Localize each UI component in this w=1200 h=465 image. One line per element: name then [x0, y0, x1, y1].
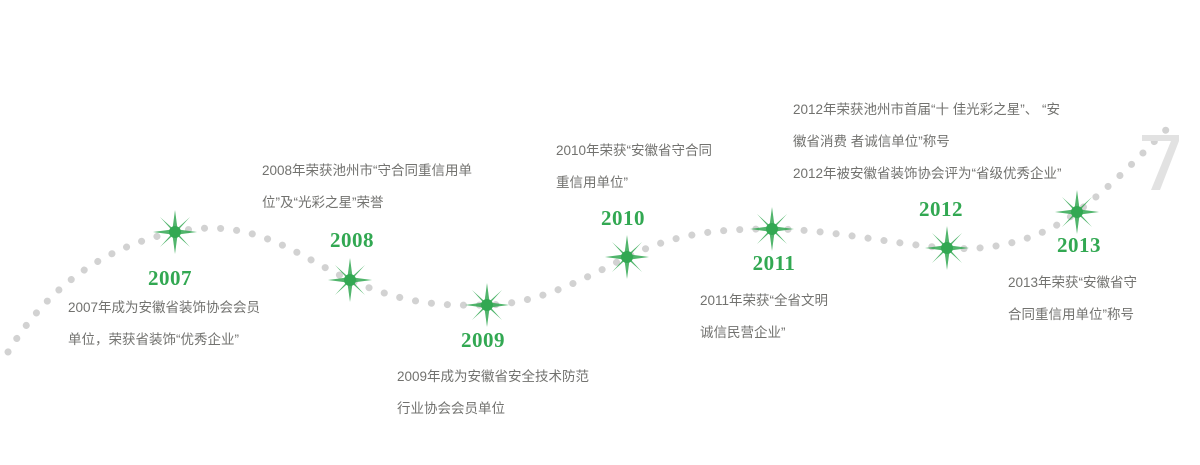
description-line: 位”及“光彩之星”荣誉 [262, 187, 472, 219]
description-line: 合同重信用单位”称号 [1008, 299, 1137, 331]
milestone-star-icon-2013 [1054, 189, 1100, 235]
milestone-star-icon-2010 [604, 234, 650, 280]
milestone-star-icon-2007 [152, 209, 198, 255]
timeline-canvas: 20072007年成为安徽省装饰协会会员单位，荣获省装饰“优秀企业”200820… [0, 0, 1200, 465]
year-label-2010: 2010 [601, 206, 645, 231]
year-label-2013: 2013 [1057, 233, 1101, 258]
description-line: 2007年成为安徽省装饰协会会员 [68, 292, 260, 324]
description-line: 徽省消费 者诚信单位”称号 [793, 126, 1062, 158]
milestone-description-2008: 2008年荣获池州市“守合同重信用单位”及“光彩之星”荣誉 [262, 155, 472, 219]
description-line: 单位，荣获省装饰“优秀企业” [68, 324, 260, 356]
year-label-2007: 2007 [148, 266, 192, 291]
milestone-description-2010: 2010年荣获“安徽省守合同重信用单位” [556, 135, 712, 199]
milestone-star-icon-2008 [327, 257, 373, 303]
description-line: 行业协会会员单位 [397, 393, 589, 425]
milestone-description-2009: 2009年成为安徽省安全技术防范行业协会会员单位 [397, 361, 589, 425]
description-line: 2008年荣获池州市“守合同重信用单 [262, 155, 472, 187]
milestone-star-icon-2009 [464, 282, 510, 328]
description-line: 2012年荣获池州市首届“十 佳光彩之星”、 “安 [793, 94, 1062, 126]
milestone-star-icon-2012 [924, 225, 970, 271]
description-line: 2010年荣获“安徽省守合同 [556, 135, 712, 167]
milestone-description-2011: 2011年荣获“全省文明诚信民营企业” [700, 285, 828, 349]
arrow-chevron-mark [1138, 128, 1184, 194]
description-line: 2011年荣获“全省文明 [700, 285, 828, 317]
year-label-2008: 2008 [330, 228, 374, 253]
milestone-description-2013: 2013年荣获“安徽省守合同重信用单位”称号 [1008, 267, 1137, 331]
milestone-description-2012: 2012年荣获池州市首届“十 佳光彩之星”、 “安徽省消费 者诚信单位”称号20… [793, 94, 1062, 190]
description-line: 2009年成为安徽省安全技术防范 [397, 361, 589, 393]
milestone-star-icon-2011 [749, 206, 795, 252]
description-line: 重信用单位” [556, 167, 712, 199]
description-line: 诚信民营企业” [700, 317, 828, 349]
description-line: 2013年荣获“安徽省守 [1008, 267, 1137, 299]
year-label-2012: 2012 [919, 197, 963, 222]
year-label-2011: 2011 [753, 251, 796, 276]
milestone-description-2007: 2007年成为安徽省装饰协会会员单位，荣获省装饰“优秀企业” [68, 292, 260, 356]
year-label-2009: 2009 [461, 328, 505, 353]
description-line: 2012年被安徽省装饰协会评为“省级优秀企业” [793, 158, 1062, 190]
